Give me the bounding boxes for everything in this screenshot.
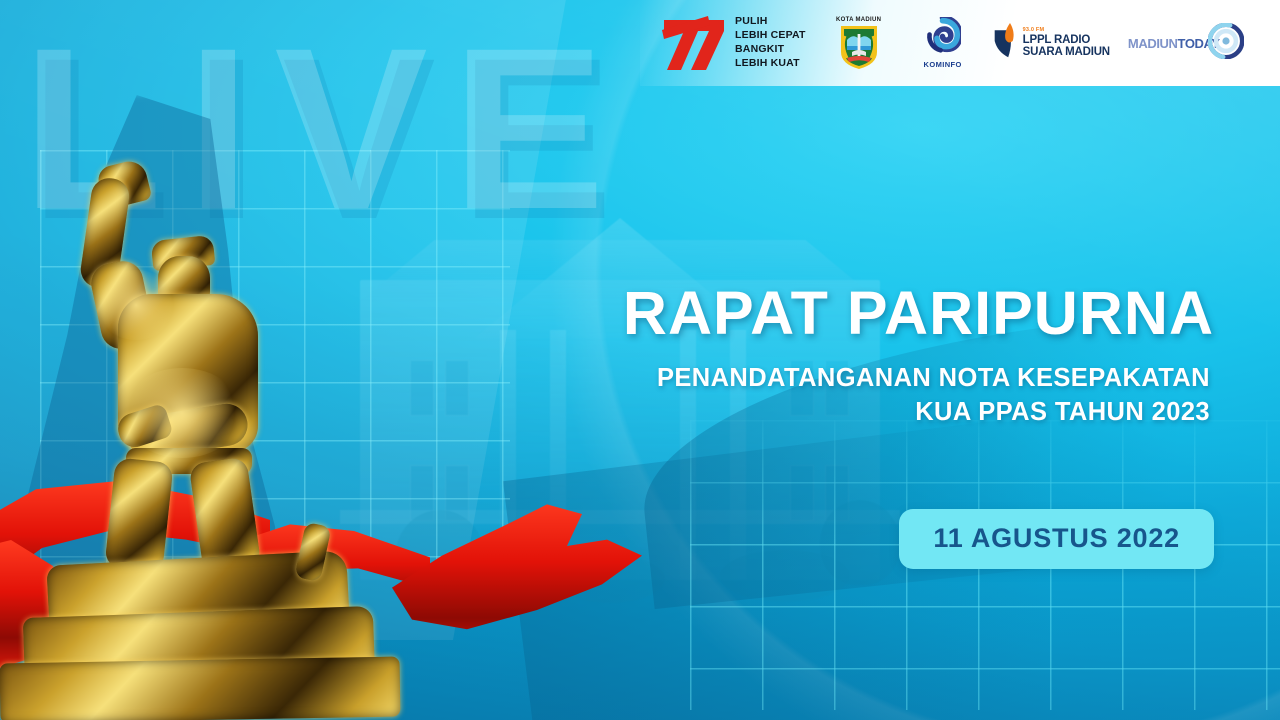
kominfo-wave-icon xyxy=(912,17,974,59)
page-title: RAPAT PARIPURNA xyxy=(623,278,1214,348)
madiun-today-swirl-icon xyxy=(1208,23,1244,64)
livestream-title-card: LIVE LIVE xyxy=(0,0,1280,720)
logo-madiun-today: MADIUN TODAY xyxy=(1128,23,1244,64)
page-subtitle: PENANDATANGANAN NOTA KESEPAKATAN KUA PPA… xyxy=(657,362,1210,430)
lppl-line1: LPPL RADIO xyxy=(1023,34,1110,46)
logo-kota-madiun: KOTA MADIUN xyxy=(824,17,894,70)
golden-warrior-statue xyxy=(0,70,430,720)
kominfo-label: KOMINFO xyxy=(912,60,974,69)
logo-77-anniversary: PULIH LEBIH CEPAT BANGKIT LEBIH KUAT xyxy=(662,14,806,72)
kota-madiun-caption: KOTA MADIUN xyxy=(824,17,894,23)
anniversary-slogan: PULIH LEBIH CEPAT BANGKIT LEBIH KUAT xyxy=(735,15,806,70)
lppl-text-block: 93.0 FM LPPL RADIO SUARA MADIUN xyxy=(1023,28,1110,58)
logo-kominfo: KOMINFO xyxy=(912,17,974,69)
lppl-flame-shield-icon xyxy=(992,21,1019,66)
madiun-today-part1: MADIUN xyxy=(1128,36,1178,51)
logo-lppl-radio: 93.0 FM LPPL RADIO SUARA MADIUN xyxy=(992,21,1110,66)
event-date-badge: 11 AGUSTUS 2022 xyxy=(899,509,1214,569)
seventy-seven-icon xyxy=(662,14,726,72)
kota-madiun-shield-icon xyxy=(838,24,880,70)
lppl-line2: SUARA MADIUN xyxy=(1023,46,1110,58)
sponsor-logo-bar: PULIH LEBIH CEPAT BANGKIT LEBIH KUAT KOT… xyxy=(640,0,1280,86)
